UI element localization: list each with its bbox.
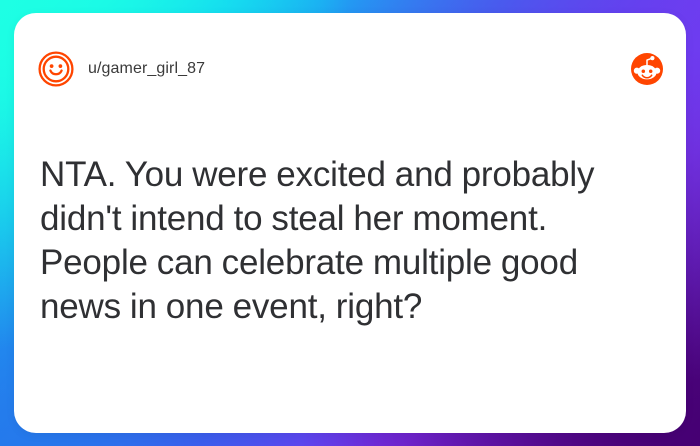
comment-header: u/gamer_girl_87 — [14, 41, 686, 97]
username-label: u/gamer_girl_87 — [88, 60, 205, 78]
reddit-logo[interactable] — [630, 52, 664, 86]
smiley-face-avatar-icon — [38, 51, 74, 87]
comment-card: u/gamer_girl_87 NTA. You were excite — [14, 13, 686, 433]
reddit-snoo-icon — [630, 52, 664, 86]
comment-text: NTA. You were excited and probably didn'… — [40, 153, 652, 329]
avatar[interactable] — [38, 51, 74, 87]
